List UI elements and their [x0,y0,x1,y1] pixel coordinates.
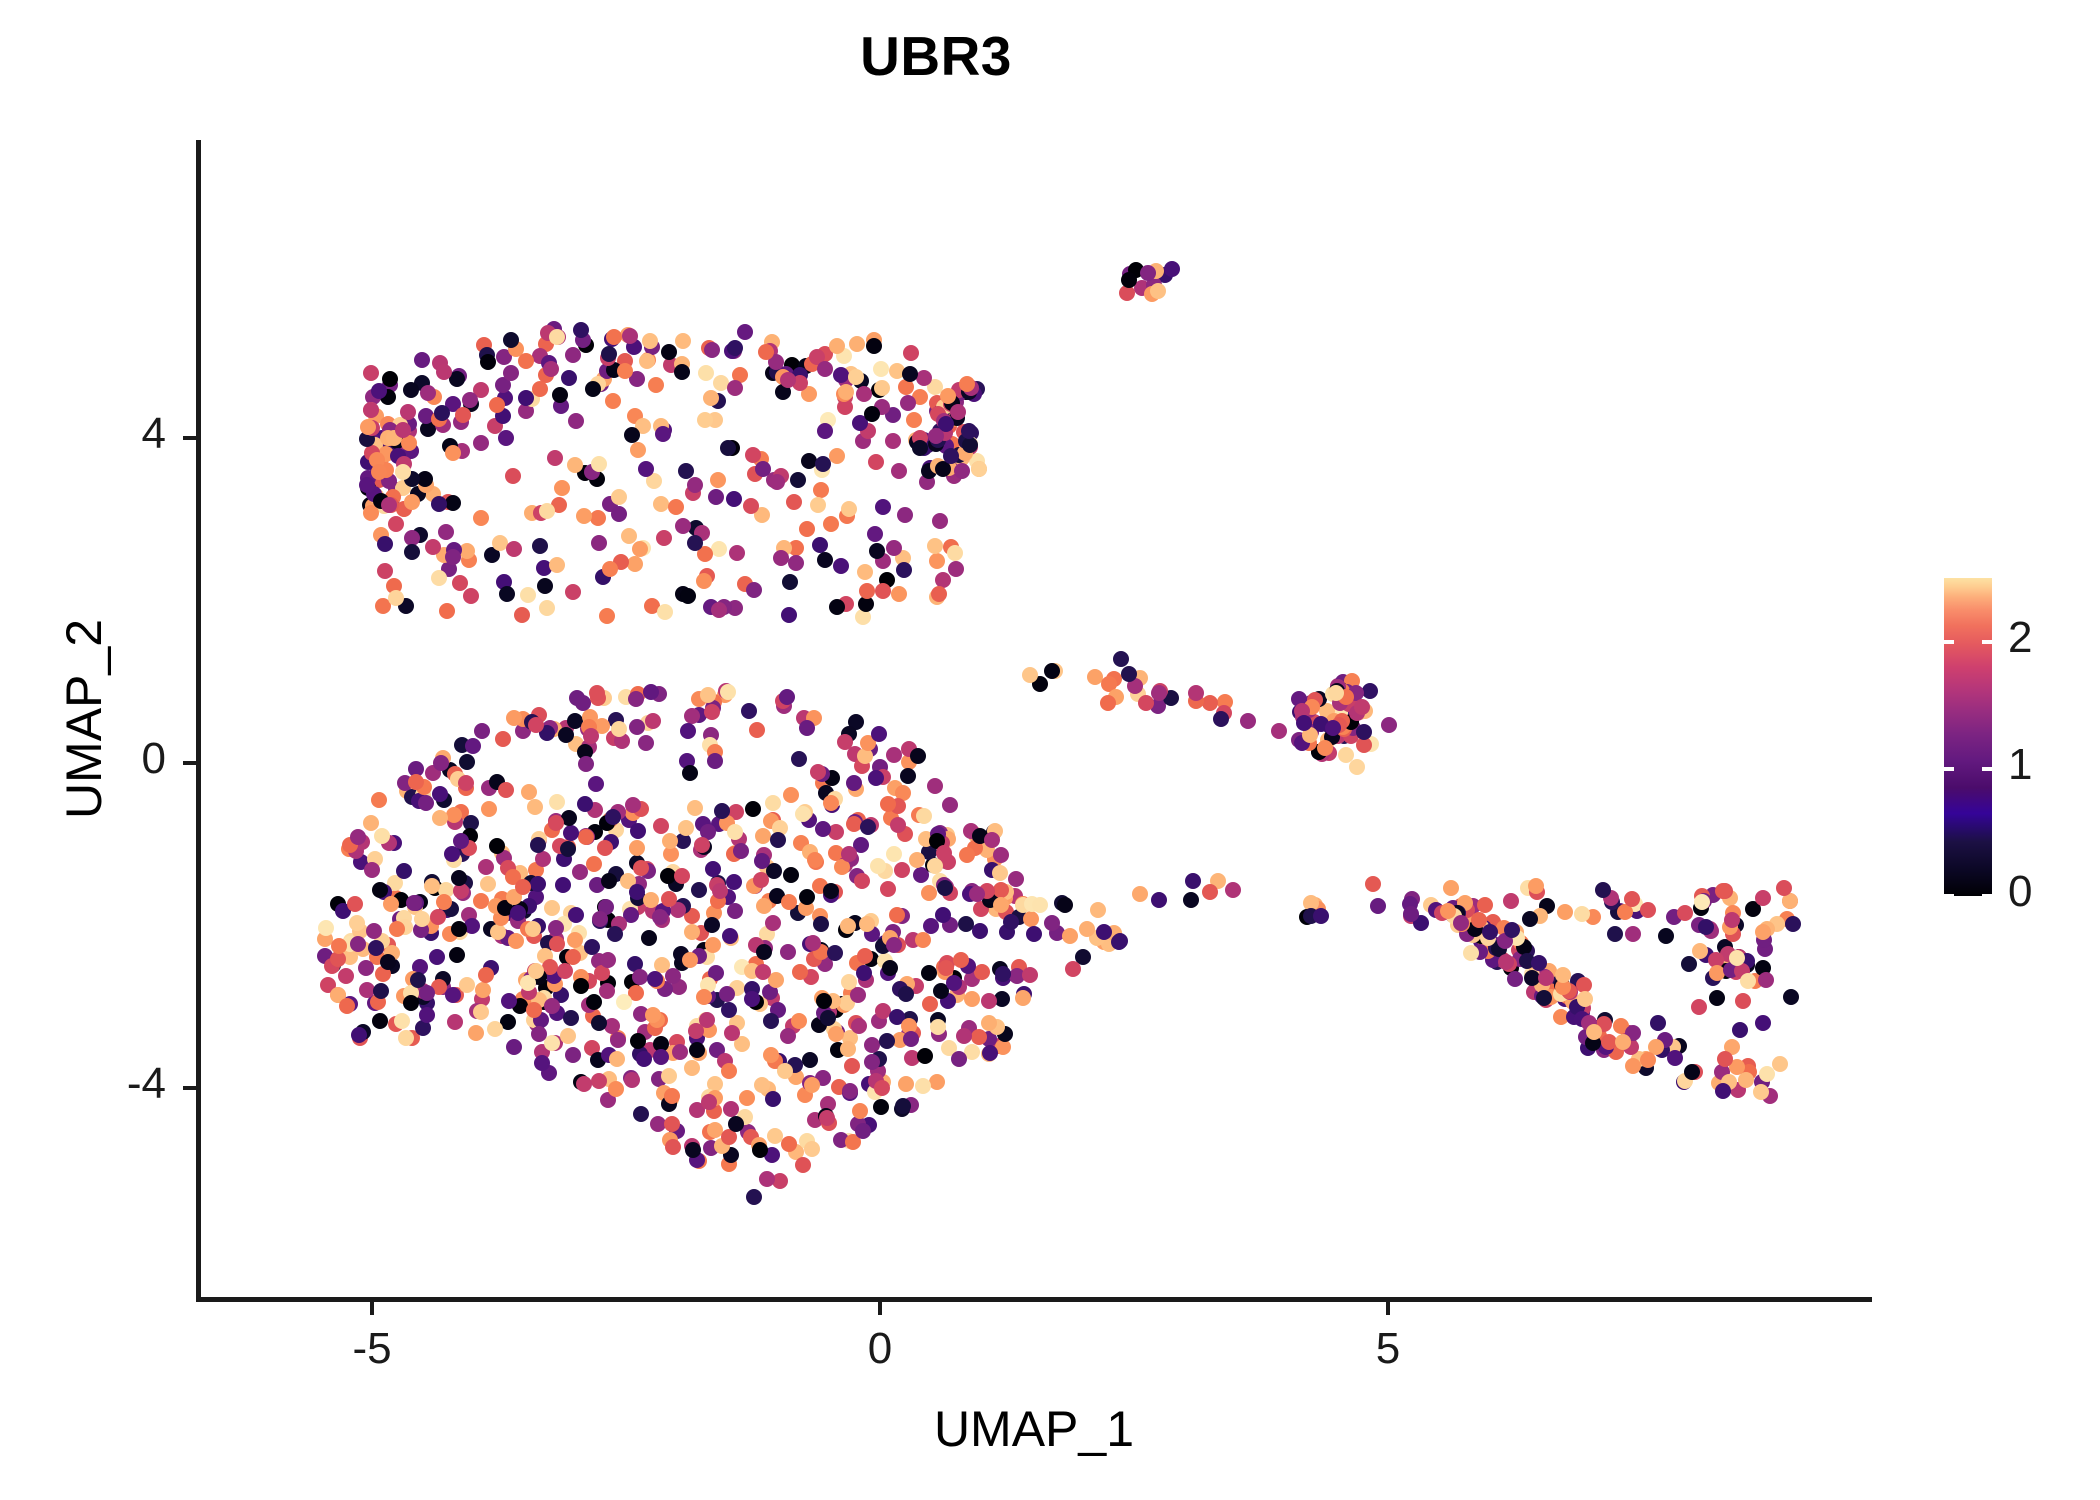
scatter-point [860,819,876,835]
scatter-point [916,808,932,824]
scatter-point [508,933,524,949]
scatter-point [616,994,632,1010]
scatter-point [585,381,601,397]
scatter-point [874,380,890,396]
scatter-point [1783,989,1799,1005]
scatter-point [903,1031,919,1047]
scatter-point [578,829,594,845]
scatter-point [846,775,862,791]
scatter-point [438,524,454,540]
scatter-point [527,799,543,815]
scatter-point [780,944,796,960]
x-tick-mark [370,1302,374,1315]
scatter-point [897,507,913,523]
scatter-point [982,1045,998,1061]
scatter-point [1785,916,1801,932]
scatter-point [318,920,334,936]
scatter-point [1471,912,1487,928]
scatter-point [882,960,898,976]
scatter-point [1185,873,1201,889]
colorbar-legend: 012 [1944,578,2084,898]
scatter-point [1658,928,1674,944]
scatter-point [455,407,471,423]
scatter-point [534,1055,550,1071]
scatter-point [468,1025,484,1041]
scatter-point [782,574,798,590]
scatter-point [578,756,594,772]
scatter-point [675,518,691,534]
scatter-point [915,932,931,948]
scatter-point [900,395,916,411]
scatter-point [1240,713,1256,729]
scatter-point [763,1013,779,1029]
scatter-point [419,1007,435,1023]
scatter-point [371,464,387,480]
scatter-point [680,723,696,739]
scatter-point [1132,886,1148,902]
scatter-point [817,361,833,377]
scatter-point [912,440,928,456]
scatter-point [951,1051,967,1067]
plot-panel [196,140,1872,1302]
scatter-point [1738,1072,1754,1088]
scatter-point [599,983,615,999]
scatter-point [1140,265,1156,281]
scatter-point [568,413,584,429]
scatter-point [780,1028,796,1044]
scatter-point [1724,912,1740,928]
scatter-point [956,1028,972,1044]
scatter-point [727,340,743,356]
x-axis-label: UMAP_1 [196,1400,1872,1458]
scatter-point [981,1015,997,1031]
scatter-point [425,539,441,555]
scatter-point [813,482,829,498]
scatter-point [590,510,606,526]
scatter-point [791,1013,807,1029]
scatter-point [1694,894,1710,910]
scatter-point [886,846,902,862]
scatter-point [549,329,565,345]
scatter-point [610,1032,626,1048]
scatter-point [350,829,366,845]
scatter-point [685,1142,701,1158]
scatter-point [795,1157,811,1173]
scatter-point [833,558,849,574]
scatter-point [842,1083,858,1099]
scatter-point [661,344,677,360]
scatter-point [903,345,919,361]
x-tick-label: -5 [272,1324,472,1374]
scatter-point [1625,1058,1641,1074]
scatter-point [1015,990,1031,1006]
scatter-point [993,897,1009,913]
scatter-point [586,994,602,1010]
colorbar-tick-label: 2 [2008,613,2032,663]
scatter-point [786,494,802,510]
scatter-point [1498,954,1514,970]
scatter-point [727,903,743,919]
scatter-point [674,364,690,380]
scatter-point [664,1116,680,1132]
scatter-point [629,884,645,900]
scatter-point [755,828,771,844]
scatter-point [555,877,571,893]
colorbar-tick-left [1944,767,1954,771]
scatter-point [528,963,544,979]
scatter-point [711,541,727,557]
scatter-point [929,553,945,569]
scatter-point [1615,1034,1631,1050]
scatter-point [727,380,743,396]
scatter-point [576,508,592,524]
scatter-point [817,552,833,568]
scatter-point [1403,906,1419,922]
scatter-point [720,684,736,700]
scatter-point [1370,898,1386,914]
colorbar-tick-right [1982,640,1992,644]
colorbar-tick-left [1944,640,1954,644]
scatter-point [451,870,467,886]
scatter-point [591,1073,607,1089]
scatter-point [898,1076,914,1092]
scatter-point [475,982,491,998]
scatter-point [490,924,506,940]
scatter-point [851,1018,867,1034]
scatter-point [689,1042,705,1058]
scatter-point [817,423,833,439]
scatter-point [759,1171,775,1187]
scatter-point [436,894,452,910]
scatter-point [1138,695,1154,711]
scatter-point [473,435,489,451]
scatter-point [1758,972,1774,988]
scatter-point [964,991,980,1007]
scatter-point [544,900,560,916]
scatter-point [364,862,380,878]
scatter-point [687,477,703,493]
scatter-point [870,858,886,874]
scatter-points-layer [201,140,1872,1297]
scatter-point [539,600,555,616]
scatter-point [535,851,551,867]
x-tick-label: 5 [1288,1324,1488,1374]
scatter-point [992,865,1008,881]
scatter-point [927,538,943,554]
scatter-point [943,448,959,464]
scatter-point [414,352,430,368]
scatter-point [799,889,815,905]
scatter-point [552,387,568,403]
scatter-point [829,338,845,354]
scatter-point [749,722,765,738]
scatter-point [1650,1015,1666,1031]
scatter-point [398,1030,414,1046]
scatter-point [1681,956,1697,972]
scatter-point [643,892,659,908]
scatter-point [1759,1066,1775,1082]
scatter-point [875,499,891,515]
scatter-point [338,968,354,984]
colorbar-tick-right [1982,767,1992,771]
scatter-point [815,821,831,837]
scatter-point [928,428,944,444]
scatter-point [576,1076,592,1092]
scatter-point [653,496,669,512]
colorbar-gradient [1944,578,1992,896]
y-axis-label: UMAP_2 [55,319,113,1119]
scatter-point [1691,999,1707,1015]
scatter-point [372,1013,388,1029]
scatter-point [465,738,481,754]
scatter-point [788,555,804,571]
scatter-point [710,472,726,488]
scatter-point [954,463,970,479]
scatter-point [445,549,461,565]
scatter-point [812,537,828,553]
scatter-point [1087,669,1103,685]
scatter-point [765,1091,781,1107]
scatter-point [769,474,785,490]
scatter-point [624,1072,640,1088]
scatter-point [474,723,490,739]
scatter-point [895,1098,911,1114]
scatter-point [510,905,526,921]
scatter-point [583,728,599,744]
scatter-point [910,748,926,764]
umap-feature-plot: UBR3 40-4-505 UMAP_1 UMAP_2 012 [0,0,2100,1500]
scatter-point [1732,1022,1748,1038]
scatter-point [1313,908,1329,924]
scatter-point [961,423,977,439]
scatter-point [790,472,806,488]
scatter-point [703,390,719,406]
scatter-point [403,995,419,1011]
scatter-point [981,993,997,1009]
scatter-point [792,964,808,980]
scatter-point [880,881,896,897]
scatter-point [753,872,769,888]
scatter-point [573,978,589,994]
scatter-point [765,915,781,931]
scatter-point [632,541,648,557]
scatter-point [1003,914,1019,930]
scatter-point [829,599,845,615]
scatter-point [572,864,588,880]
scatter-point [1709,990,1725,1006]
scatter-point [959,376,975,392]
scatter-point [547,450,563,466]
scatter-point [871,726,887,742]
scatter-point [1607,926,1623,942]
scatter-point [894,862,910,878]
scatter-point [403,382,419,398]
scatter-point [829,448,845,464]
scatter-point [487,1021,503,1037]
scatter-point [1586,1024,1602,1040]
page-title: UBR3 [0,24,1872,88]
scatter-point [1715,1083,1731,1099]
scatter-point [478,859,494,875]
scatter-point [584,939,600,955]
scatter-point [645,713,661,729]
scatter-point [1443,880,1459,896]
scatter-point [560,1028,576,1044]
scatter-point [972,923,988,939]
scatter-point [739,1090,755,1106]
scatter-point [754,853,770,869]
scatter-point [721,1063,737,1079]
scatter-point [942,797,958,813]
scatter-point [503,365,519,381]
scatter-point [1717,1051,1733,1067]
scatter-point [873,1099,889,1115]
scatter-point [478,967,494,983]
scatter-point [632,969,648,985]
scatter-point [372,882,388,898]
scatter-point [886,747,902,763]
scatter-point [823,883,839,899]
scatter-point [837,734,853,750]
scatter-point [756,944,772,960]
scatter-point [726,491,742,507]
scatter-point [1112,933,1128,949]
scatter-point [1536,990,1552,1006]
scatter-point [589,685,605,701]
scatter-point [855,1123,871,1139]
scatter-point [532,381,548,397]
scatter-point [597,840,613,856]
scatter-point [900,768,916,784]
scatter-point [879,1033,895,1049]
scatter-point [445,495,461,511]
scatter-point [1482,924,1498,940]
scatter-point [816,993,832,1009]
scatter-point [549,557,565,573]
scatter-point [630,823,646,839]
scatter-point [430,909,446,925]
scatter-point [366,923,382,939]
scatter-point [609,1051,625,1067]
scatter-point [857,564,873,580]
scatter-point [729,545,745,561]
scatter-point [383,896,399,912]
scatter-point [823,516,839,532]
scatter-point [608,1081,624,1097]
scatter-point [473,510,489,526]
scatter-point [645,1007,661,1023]
scatter-point [1753,1084,1769,1100]
scatter-point [930,1019,946,1035]
scatter-point [663,846,679,862]
scatter-point [657,604,673,620]
scatter-point [389,921,405,937]
scatter-point [611,506,627,522]
scatter-point [480,876,496,892]
scatter-point [799,521,815,537]
scatter-point [1557,904,1573,920]
scatter-point [1096,924,1112,940]
scatter-point [1065,961,1081,977]
scatter-point [841,501,857,517]
scatter-point [687,800,703,816]
scatter-point [381,497,397,513]
scatter-point [896,562,912,578]
scatter-point [388,516,404,532]
scatter-point [431,570,447,586]
scatter-point [1032,897,1048,913]
scatter-point [804,1077,820,1093]
scatter-point [349,915,365,931]
scatter-point [682,765,698,781]
scatter-point [656,530,672,546]
scatter-point [489,397,505,413]
scatter-point [624,427,640,443]
scatter-point [567,932,583,948]
scatter-point [680,588,696,604]
scatter-point [636,1051,652,1067]
scatter-point [605,393,621,409]
scatter-point [719,986,735,1002]
scatter-point [773,550,789,566]
scatter-point [558,727,574,743]
scatter-point [439,603,455,619]
scatter-point [974,964,990,980]
scatter-point [481,801,497,817]
scatter-point [962,437,978,453]
scatter-point [628,691,644,707]
x-tick-label: 0 [780,1324,980,1374]
scatter-point [414,911,430,927]
scatter-point [1640,902,1656,918]
scatter-point [351,1027,367,1043]
scatter-point [833,367,849,383]
scatter-point [662,833,678,849]
scatter-point [531,1026,547,1042]
scatter-point [532,538,548,554]
scatter-point [927,858,943,874]
scatter-point [946,975,962,991]
scatter-point [746,582,762,598]
scatter-point [591,456,607,472]
scatter-point [854,873,870,889]
scatter-point [916,370,932,386]
scatter-point [917,1048,933,1064]
scatter-point [463,588,479,604]
scatter-point [712,883,728,899]
scatter-point [783,867,799,883]
scatter-point [733,843,749,859]
scatter-point [921,965,937,981]
scatter-point [849,336,865,352]
scatter-point [447,1014,463,1030]
scatter-point [827,945,843,961]
scatter-point [629,719,645,735]
scatter-point [606,329,622,345]
scatter-point [707,753,723,769]
scatter-point [993,882,1009,898]
scatter-point [687,535,703,551]
scatter-point [665,1139,681,1155]
scatter-point [1507,971,1523,987]
scatter-point [932,513,948,529]
scatter-point [948,561,964,577]
scatter-point [499,586,515,602]
scatter-point [602,561,618,577]
scatter-point [1325,720,1341,736]
scatter-point [1684,1064,1700,1080]
scatter-point [838,384,854,400]
